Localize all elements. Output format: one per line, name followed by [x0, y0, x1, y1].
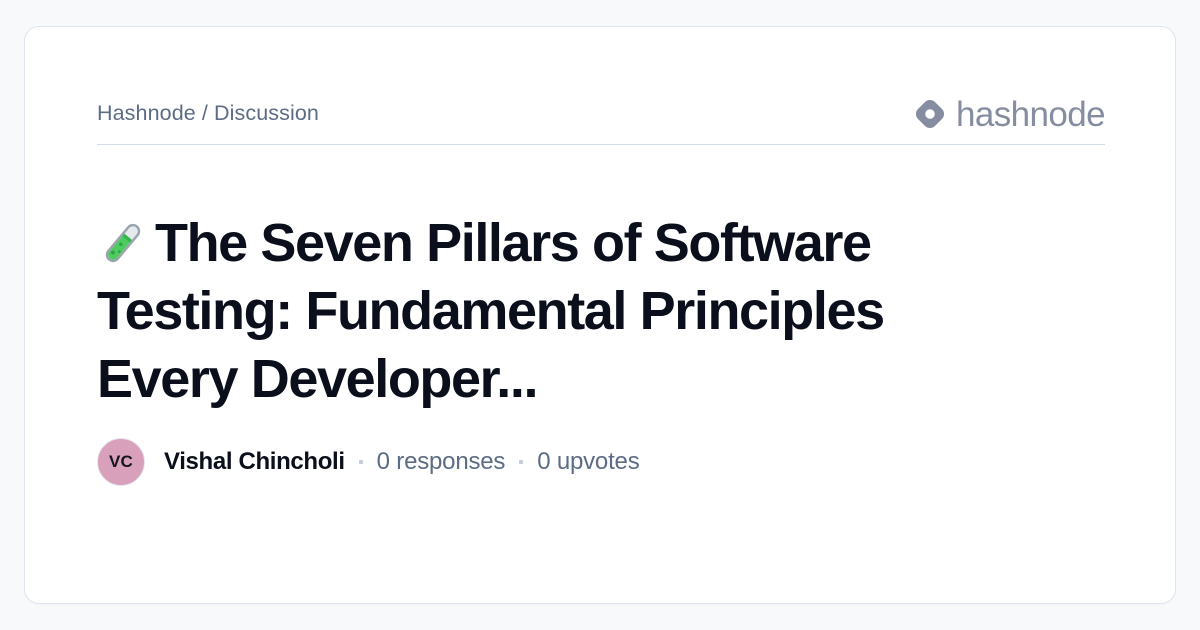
- page-title: The Seven Pillars of Software Testing: F…: [97, 209, 1037, 413]
- post-meta-row: VC Vishal Chincholi 0 responses 0 upvote…: [97, 437, 640, 487]
- upvotes-count: 0 upvotes: [537, 448, 639, 476]
- page-title-text: The Seven Pillars of Software Testing: F…: [97, 213, 884, 409]
- breadcrumb: Hashnode / Discussion: [97, 101, 319, 127]
- hashnode-brand-logo: hashnode: [915, 97, 1105, 132]
- title-block: The Seven Pillars of Software Testing: F…: [97, 209, 1037, 413]
- meta-separator-dot: [359, 460, 363, 464]
- avatar-initials: VC: [109, 452, 133, 472]
- avatar[interactable]: VC: [97, 438, 145, 486]
- header-divider: [97, 144, 1105, 145]
- discussion-preview-card: Hashnode / Discussion hashnode: [24, 26, 1176, 604]
- meta-separator-dot: [519, 460, 523, 464]
- hashnode-diamond-icon: [915, 99, 945, 129]
- responses-count: 0 responses: [377, 448, 506, 476]
- hashnode-wordmark: hashnode: [956, 97, 1105, 132]
- og-card-page: Hashnode / Discussion hashnode: [0, 0, 1200, 630]
- test-tube-emoji-icon: [97, 217, 149, 269]
- author-name[interactable]: Vishal Chincholi: [164, 448, 345, 476]
- card-header: Hashnode / Discussion hashnode: [97, 83, 1105, 145]
